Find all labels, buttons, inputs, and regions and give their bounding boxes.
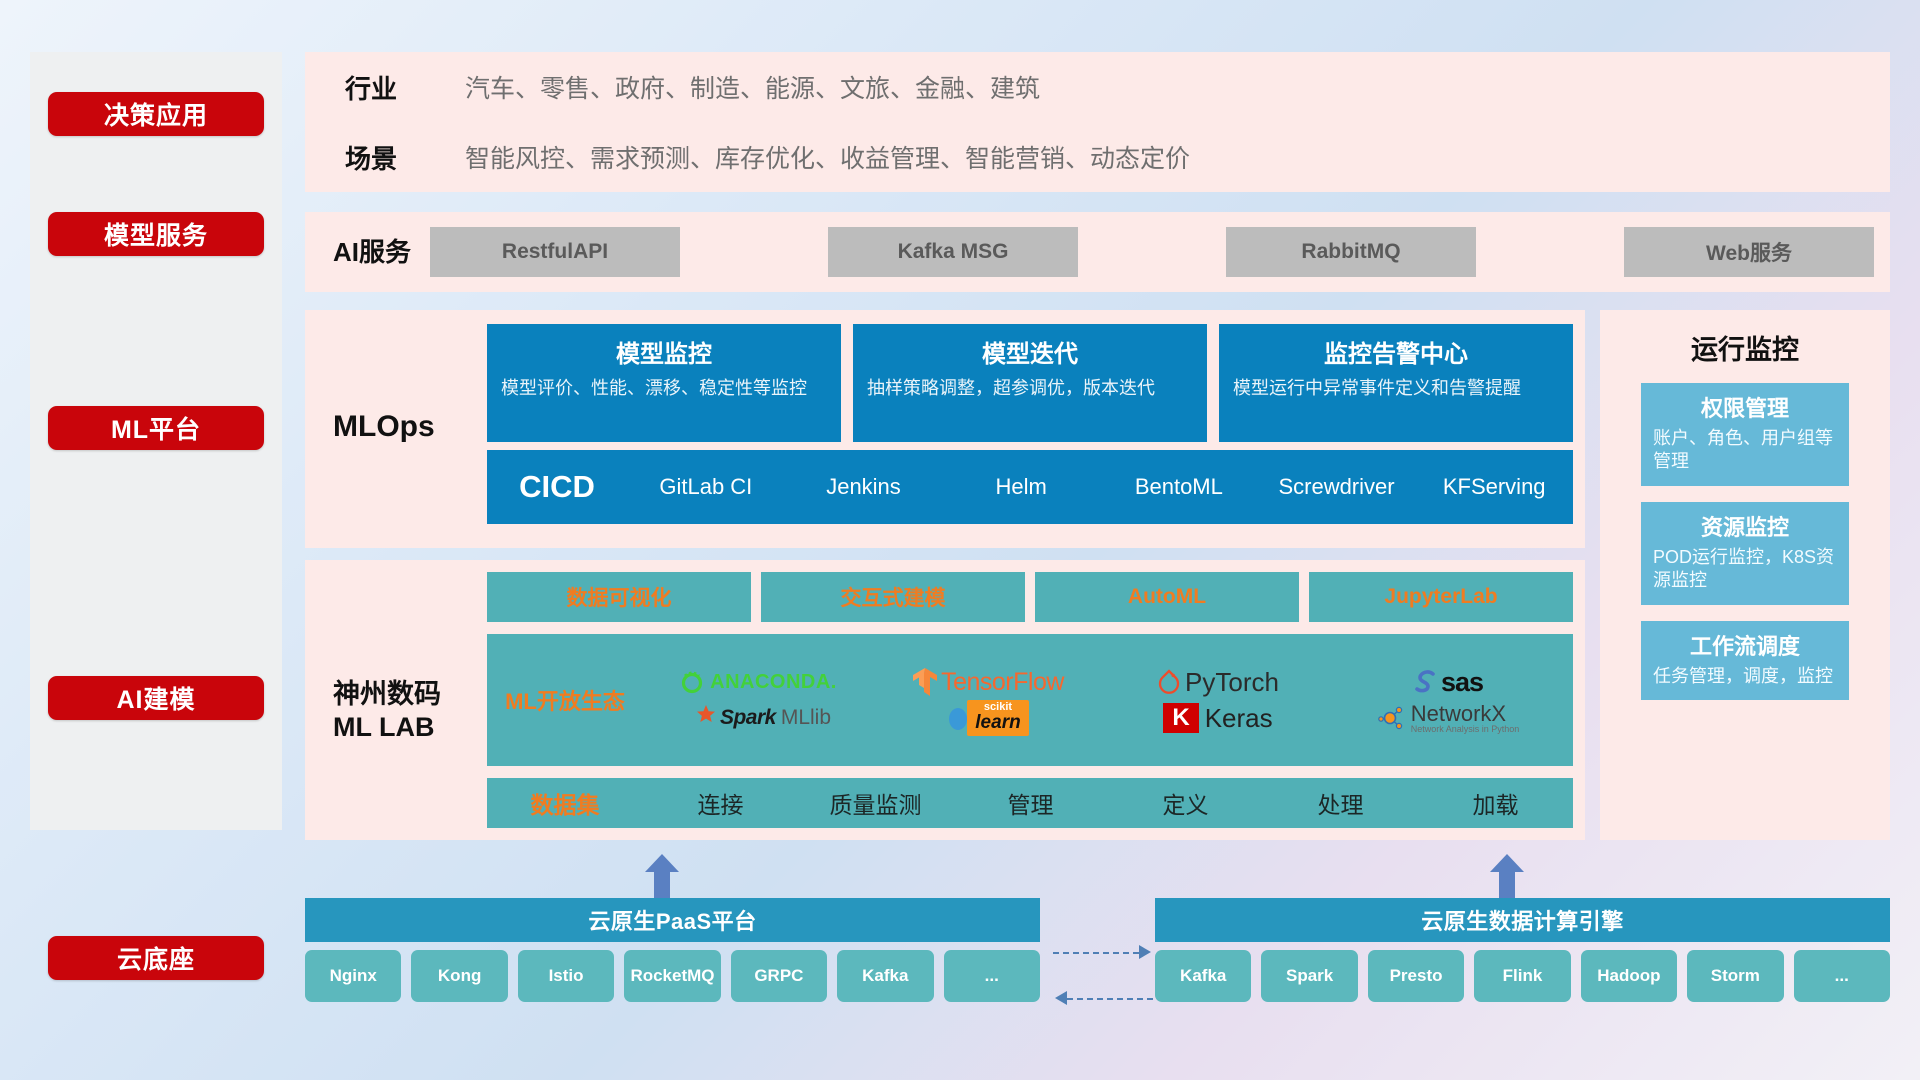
monitoring-card-permission[interactable]: 权限管理 账户、角色、用户组等管理 [1641, 383, 1849, 486]
dataset-item-manage[interactable]: 管理 [953, 786, 1108, 820]
data-engine-title: 云原生数据计算引擎 [1155, 898, 1890, 942]
cicd-tool-jenkins[interactable]: Jenkins [785, 473, 943, 501]
cicd-tool-bentoml[interactable]: BentoML [1100, 473, 1258, 501]
pytorch-logo[interactable]: PyTorch [1157, 667, 1279, 698]
keras-logo-text: Keras [1205, 703, 1273, 734]
paas-tile-grpc[interactable]: GRPC [731, 950, 827, 1002]
ai-service-chip-restfulapi[interactable]: RestfulAPI [430, 227, 680, 277]
ml-lab-chip-interactive-modeling[interactable]: 交互式建模 [761, 572, 1025, 622]
dataset-item-process[interactable]: 处理 [1263, 786, 1418, 820]
engine-tile-more[interactable]: ... [1794, 950, 1890, 1002]
ml-ecosystem-label: ML开放生态 [487, 684, 643, 716]
dataset-strip: 数据集 连接 质量监测 管理 定义 处理 加载 [487, 778, 1573, 828]
scikit-learn-logo[interactable]: scikit learn [947, 700, 1028, 736]
monitoring-card-title: 资源监控 [1653, 510, 1837, 542]
arrow-up-data-engine [1490, 854, 1524, 898]
industry-label: 行业 [345, 69, 465, 106]
industry-scenario-band: 行业 汽车、零售、政府、制造、能源、文旅、金融、建筑 场景 智能风控、需求预测、… [305, 52, 1890, 192]
mlops-card-model-monitoring[interactable]: 模型监控 模型评价、性能、漂移、稳定性等监控 [487, 324, 841, 442]
tensorflow-logo[interactable]: TensorFlow [912, 667, 1064, 697]
pytorch-logo-text: PyTorch [1185, 667, 1279, 698]
cloud-foundation-area: 云原生PaaS平台 Nginx Kong Istio RocketMQ GRPC… [305, 876, 1890, 1024]
monitoring-card-desc: 账户、角色、用户组等管理 [1653, 427, 1837, 474]
mlops-card-title: 模型迭代 [867, 334, 1193, 369]
networkx-logo-text: NetworkX [1411, 702, 1520, 725]
tensorflow-logo-text: TensorFlow [941, 668, 1064, 697]
monitoring-card-desc: POD运行监控，K8S资源监控 [1653, 546, 1837, 593]
engine-tile-kafka[interactable]: Kafka [1155, 950, 1251, 1002]
anaconda-logo-text: ANACONDA. [710, 671, 837, 694]
ai-service-chip-kafka-msg[interactable]: Kafka MSG [828, 227, 1078, 277]
engine-tile-flink[interactable]: Flink [1474, 950, 1570, 1002]
cicd-tool-list: GitLab CI Jenkins Helm BentoML Screwdriv… [627, 473, 1573, 501]
mlops-band: MLOps 模型监控 模型评价、性能、漂移、稳定性等监控 模型迭代 抽样策略调整… [305, 310, 1585, 548]
ai-service-band: AI服务 RestfulAPI Kafka MSG RabbitMQ Web服务 [305, 212, 1890, 292]
mlops-card-desc: 模型运行中异常事件定义和告警提醒 [1233, 377, 1559, 401]
engine-tile-hadoop[interactable]: Hadoop [1581, 950, 1677, 1002]
data-engine-tile-list: Kafka Spark Presto Flink Hadoop Storm ..… [1155, 950, 1890, 1002]
sas-logo[interactable]: sas [1413, 667, 1483, 698]
stage-badge-model-service[interactable]: 模型服务 [48, 212, 264, 256]
paas-tile-more[interactable]: ... [944, 950, 1040, 1002]
monitoring-card-resource[interactable]: 资源监控 POD运行监控，K8S资源监控 [1641, 502, 1849, 605]
engine-tile-spark[interactable]: Spark [1261, 950, 1357, 1002]
stage-badge-decision-app[interactable]: 决策应用 [48, 92, 264, 136]
runtime-monitoring-panel: 运行监控 权限管理 账户、角色、用户组等管理 资源监控 POD运行监控，K8S资… [1600, 310, 1890, 840]
ai-service-chip-rabbitmq[interactable]: RabbitMQ [1226, 227, 1476, 277]
monitoring-card-title: 工作流调度 [1653, 629, 1837, 661]
sas-logo-text: sas [1441, 667, 1483, 698]
paas-tile-rocketmq[interactable]: RocketMQ [624, 950, 720, 1002]
industry-value: 汽车、零售、政府、制造、能源、文旅、金融、建筑 [465, 69, 1040, 105]
paas-tile-list: Nginx Kong Istio RocketMQ GRPC Kafka ... [305, 950, 1040, 1002]
dashed-arrowhead-right [1139, 945, 1151, 959]
industry-row: 行业 汽车、零售、政府、制造、能源、文旅、金融、建筑 [305, 52, 1890, 122]
mlops-card-title: 模型监控 [501, 334, 827, 369]
ml-lab-band: 神州数码 ML LAB 数据可视化 交互式建模 AutoML JupyterLa… [305, 560, 1585, 840]
paas-tile-istio[interactable]: Istio [518, 950, 614, 1002]
paas-platform-title: 云原生PaaS平台 [305, 898, 1040, 942]
cicd-title: CICD [487, 469, 627, 505]
mlops-card-model-iteration[interactable]: 模型迭代 抽样策略调整，超参调优，版本迭代 [853, 324, 1207, 442]
ml-lab-label: 神州数码 ML LAB [333, 678, 441, 744]
spark-mllib-logo[interactable]: Spark MLlib [685, 703, 831, 733]
dashed-connector-left [1067, 998, 1153, 1000]
ml-lab-label-line1: 神州数码 [333, 678, 441, 711]
paas-tile-nginx[interactable]: Nginx [305, 950, 401, 1002]
ai-service-chip-list: RestfulAPI Kafka MSG RabbitMQ Web服务 [430, 227, 1890, 277]
scenario-label: 场景 [345, 139, 465, 176]
ml-lab-chip-list: 数据可视化 交互式建模 AutoML JupyterLab [487, 572, 1573, 622]
mlops-label: MLOps [333, 408, 435, 446]
engine-tile-presto[interactable]: Presto [1368, 950, 1464, 1002]
stage-badge-ml-platform[interactable]: ML平台 [48, 406, 264, 450]
mlops-card-list: 模型监控 模型评价、性能、漂移、稳定性等监控 模型迭代 抽样策略调整，超参调优，… [487, 324, 1573, 442]
ml-lab-label-line2: ML LAB [333, 711, 441, 744]
dataset-item-define[interactable]: 定义 [1108, 786, 1263, 820]
dashed-arrowhead-left [1055, 991, 1067, 1005]
dataset-label: 数据集 [487, 786, 643, 820]
engine-tile-storm[interactable]: Storm [1687, 950, 1783, 1002]
cloud-column-paas: 云原生PaaS平台 Nginx Kong Istio RocketMQ GRPC… [305, 898, 1040, 1002]
ai-service-label: AI服务 [305, 236, 430, 269]
mlops-card-title: 监控告警中心 [1233, 334, 1559, 369]
cicd-strip: CICD GitLab CI Jenkins Helm BentoML Scre… [487, 450, 1573, 524]
keras-logo[interactable]: K Keras [1163, 703, 1272, 734]
stage-badge-ai-modeling[interactable]: AI建模 [48, 676, 264, 720]
dataset-item-connect[interactable]: 连接 [643, 786, 798, 820]
mlops-card-alert-center[interactable]: 监控告警中心 模型运行中异常事件定义和告警提醒 [1219, 324, 1573, 442]
networkx-logo[interactable]: NetworkX Network Analysis in Python [1377, 702, 1520, 735]
scenario-row: 场景 智能风控、需求预测、库存优化、收益管理、智能营销、动态定价 [305, 122, 1890, 192]
ml-lab-chip-data-visualization[interactable]: 数据可视化 [487, 572, 751, 622]
ml-ecosystem-strip: ML开放生态 ANACONDA. TensorFlow [487, 634, 1573, 766]
paas-tile-kong[interactable]: Kong [411, 950, 507, 1002]
cicd-tool-screwdriver[interactable]: Screwdriver [1258, 473, 1416, 501]
cicd-tool-kfserving[interactable]: KFServing [1415, 473, 1573, 501]
monitoring-card-desc: 任务管理，调度，监控 [1653, 665, 1837, 688]
arrow-up-paas [645, 854, 679, 898]
mlops-card-desc: 抽样策略调整，超参调优，版本迭代 [867, 377, 1193, 401]
monitoring-card-workflow[interactable]: 工作流调度 任务管理，调度，监控 [1641, 621, 1849, 700]
cicd-tool-helm[interactable]: Helm [942, 473, 1100, 501]
ml-lab-chip-jupyterlab[interactable]: JupyterLab [1309, 572, 1573, 622]
dashed-connector-right [1053, 952, 1139, 954]
cloud-column-data-engine: 云原生数据计算引擎 Kafka Spark Presto Flink Hadoo… [1155, 898, 1890, 1002]
dataset-item-list: 连接 质量监测 管理 定义 处理 加载 [643, 786, 1573, 820]
monitoring-card-title: 权限管理 [1653, 391, 1837, 423]
anaconda-logo[interactable]: ANACONDA. [679, 669, 837, 695]
stage-badge-cloud-base[interactable]: 云底座 [48, 936, 264, 980]
paas-tile-kafka[interactable]: Kafka [837, 950, 933, 1002]
architecture-diagram: 决策应用 模型服务 ML平台 AI建模 云底座 行业 汽车、零售、政府、制造、能… [0, 0, 1920, 1080]
dataset-item-quality[interactable]: 质量监测 [798, 786, 953, 820]
runtime-monitoring-title: 运行监控 [1600, 328, 1890, 367]
ai-service-chip-web[interactable]: Web服务 [1624, 227, 1874, 277]
scenario-value: 智能风控、需求预测、库存优化、收益管理、智能营销、动态定价 [465, 139, 1190, 175]
mlops-card-desc: 模型评价、性能、漂移、稳定性等监控 [501, 377, 827, 401]
ml-ecosystem-logo-grid: ANACONDA. TensorFlow PyTorch [643, 664, 1573, 736]
cicd-tool-gitlab-ci[interactable]: GitLab CI [627, 473, 785, 501]
dataset-item-load[interactable]: 加载 [1418, 786, 1573, 820]
ml-lab-chip-automl[interactable]: AutoML [1035, 572, 1299, 622]
